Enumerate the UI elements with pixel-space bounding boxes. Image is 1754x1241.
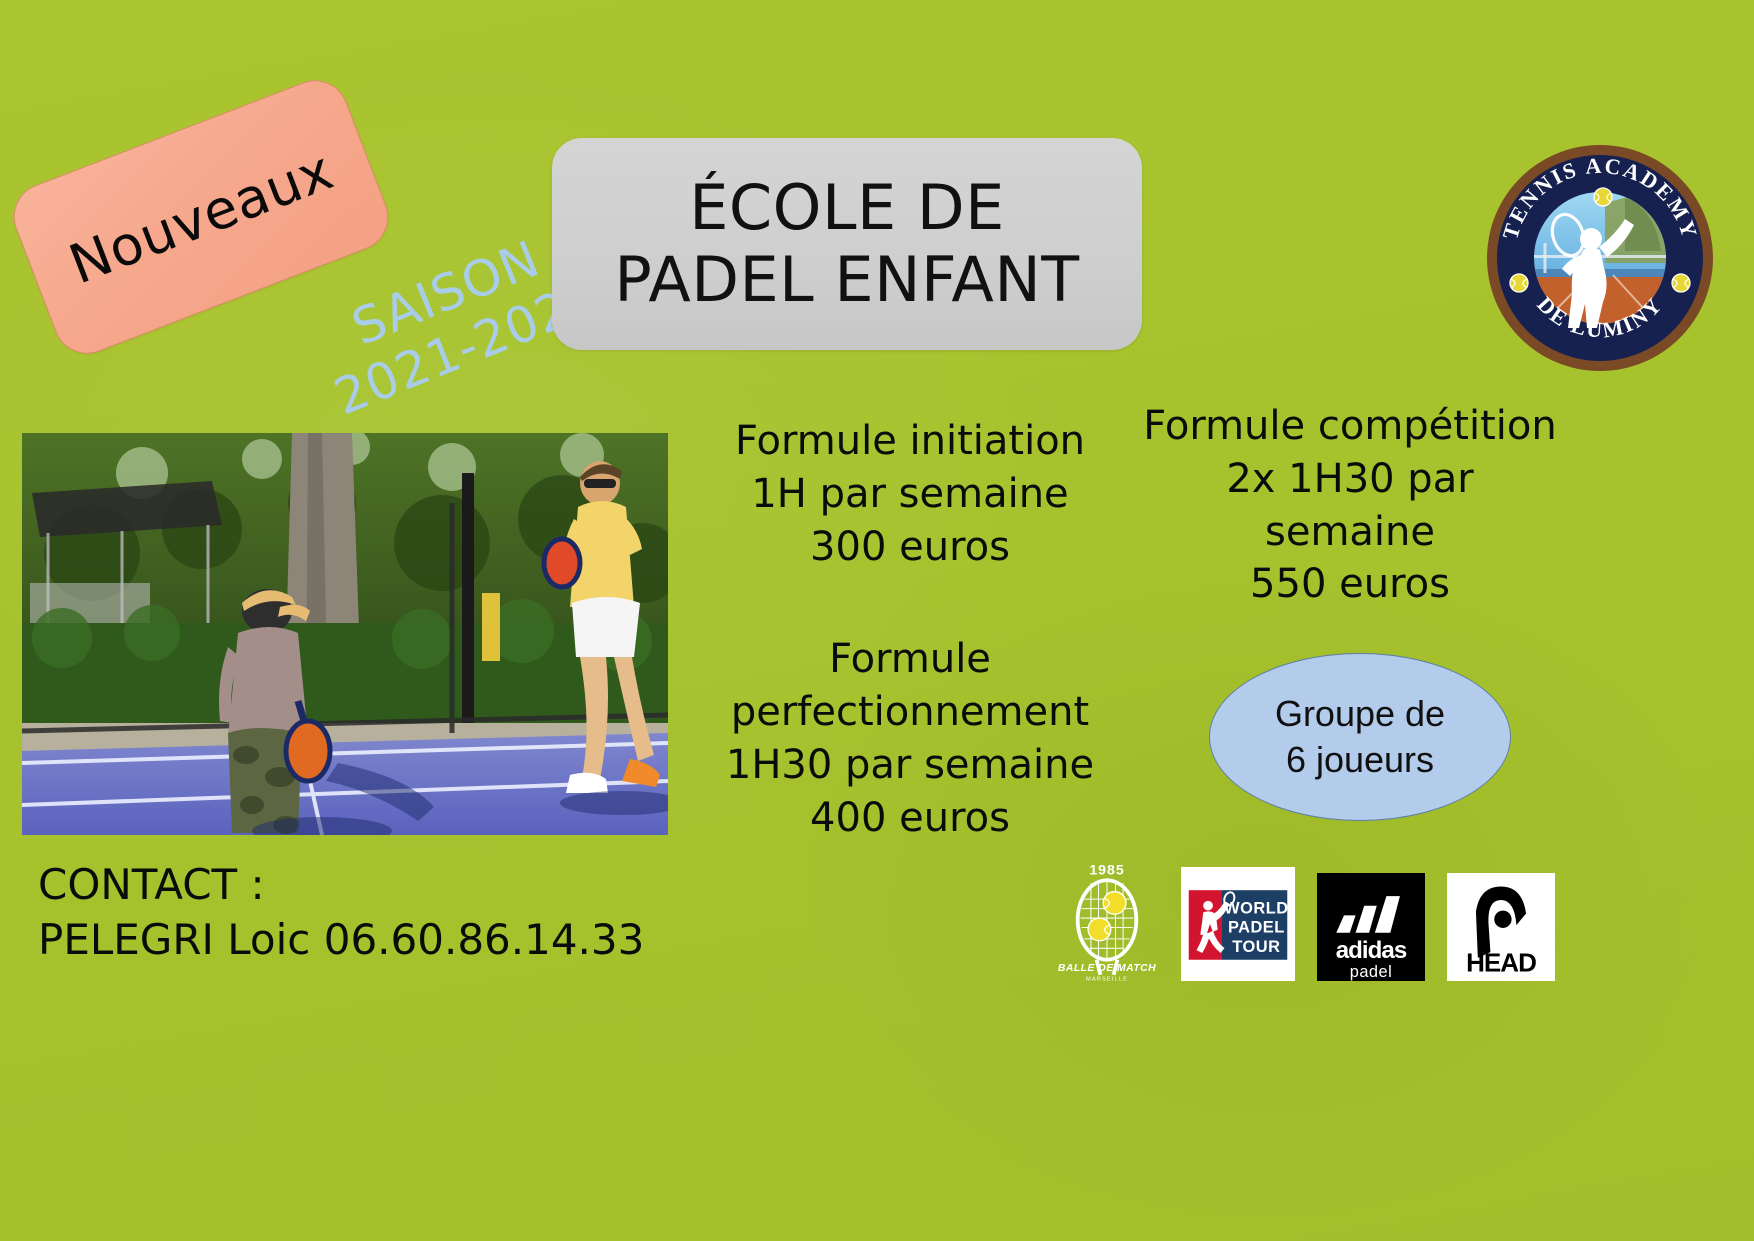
formula-perfectionnement-price: 400 euros xyxy=(700,792,1120,845)
svg-text:1985: 1985 xyxy=(1089,863,1124,879)
sponsor-adidas-padel-logo: adidas padel xyxy=(1317,873,1425,985)
formula-competition: Formule compétition 2x 1H30 par semaine … xyxy=(1140,400,1560,611)
group-size-badge: Groupe de 6 joueurs xyxy=(1209,653,1511,821)
formula-perfectionnement-line-3: 1H30 par semaine xyxy=(700,739,1120,792)
formula-initiation-line-2: 1H par semaine xyxy=(700,468,1120,521)
formula-perfectionnement: Formule perfectionnement 1H30 par semain… xyxy=(700,633,1120,844)
formula-competition-line-1: Formule compétition xyxy=(1140,400,1560,453)
formula-initiation-price: 300 euros xyxy=(700,521,1120,574)
formula-competition-line-2: 2x 1H30 par xyxy=(1140,453,1560,506)
sponsor-world-padel-tour-logo: WORLD PADEL TOUR xyxy=(1181,867,1295,985)
formula-initiation: Formule initiation 1H par semaine 300 eu… xyxy=(700,415,1120,573)
svg-text:MARSEILLE: MARSEILLE xyxy=(1086,976,1128,981)
contact-label: CONTACT : xyxy=(38,858,644,913)
svg-text:PADEL: PADEL xyxy=(1228,919,1285,937)
group-size-line-2: 6 joueurs xyxy=(1286,737,1434,783)
formula-competition-price: 550 euros xyxy=(1140,558,1560,611)
svg-text:padel: padel xyxy=(1350,963,1392,981)
formula-initiation-line-1: Formule initiation xyxy=(700,415,1120,468)
group-size-line-1: Groupe de xyxy=(1275,691,1445,737)
formula-column-right: Formule compétition 2x 1H30 par semaine … xyxy=(1140,400,1560,611)
svg-text:adidas: adidas xyxy=(1336,937,1407,964)
page-title-line-2: PADEL ENFANT xyxy=(614,244,1079,316)
formula-competition-line-3: semaine xyxy=(1140,506,1560,559)
formula-column-middle: Formule initiation 1H par semaine 300 eu… xyxy=(700,415,1120,845)
sponsor-logo-row: 1985 BALLE DE MATCH MARSEILLE xyxy=(1055,855,1715,985)
nouveaux-badge-label: Nouveaux xyxy=(61,138,341,296)
svg-text:BALLE DE MATCH: BALLE DE MATCH xyxy=(1058,963,1156,974)
padel-court-photo xyxy=(22,433,668,835)
contact-person: PELEGRI Loic 06.60.86.14.33 xyxy=(38,913,644,968)
poster-canvas: Nouveaux SAISON 2021-2022 ÉCOLE DE PADEL… xyxy=(0,0,1754,1241)
sponsor-balle-de-match-logo: 1985 BALLE DE MATCH MARSEILLE xyxy=(1055,857,1159,985)
sponsor-head-logo: HEAD xyxy=(1447,873,1555,985)
tennis-academy-luminy-logo: TENNIS ACADEMY DE LUMINY xyxy=(1485,143,1715,373)
svg-text:WORLD: WORLD xyxy=(1224,899,1288,917)
svg-text:HEAD: HEAD xyxy=(1466,947,1536,977)
contact-block: CONTACT : PELEGRI Loic 06.60.86.14.33 xyxy=(38,858,644,967)
formula-perfectionnement-line-1: Formule xyxy=(700,633,1120,686)
page-title-line-1: ÉCOLE DE xyxy=(689,172,1005,244)
formula-perfectionnement-line-2: perfectionnement xyxy=(700,686,1120,739)
title-panel: ÉCOLE DE PADEL ENFANT xyxy=(552,138,1142,350)
svg-text:TOUR: TOUR xyxy=(1232,938,1280,956)
